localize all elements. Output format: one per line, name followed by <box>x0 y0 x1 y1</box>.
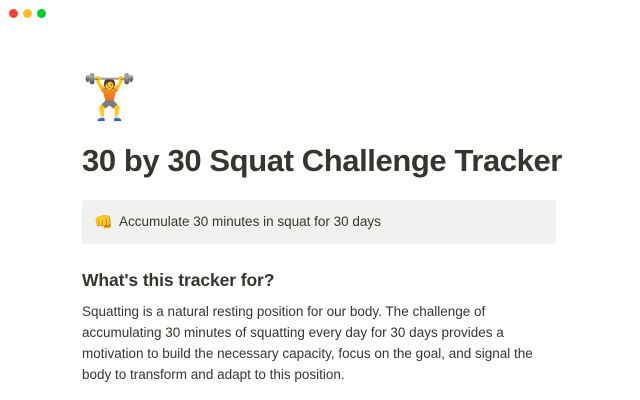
window-traffic-lights <box>9 9 46 18</box>
page-title[interactable]: 30 by 30 Squat Challenge Tracker <box>82 142 556 180</box>
callout-goal-text: Accumulate 30 minutes in squat for 30 da… <box>119 212 381 232</box>
page-canvas: 🏋️ 30 by 30 Squat Challenge Tracker 👊 Ac… <box>0 28 640 400</box>
page-content: 🏋️ 30 by 30 Squat Challenge Tracker 👊 Ac… <box>0 28 640 400</box>
window-minimize-button[interactable] <box>23 9 32 18</box>
person-lifting-weights-icon[interactable]: 🏋️ <box>82 72 556 128</box>
window-maximize-button[interactable] <box>37 9 46 18</box>
callout-goal[interactable]: 👊 Accumulate 30 minutes in squat for 30 … <box>82 200 556 244</box>
section-paragraph-purpose[interactable]: Squatting is a natural resting position … <box>82 301 556 385</box>
window-titlebar <box>0 0 640 28</box>
oncoming-fist-icon: 👊 <box>94 212 119 232</box>
section-heading-purpose[interactable]: What's this tracker for? <box>82 268 556 292</box>
window-close-button[interactable] <box>9 9 18 18</box>
